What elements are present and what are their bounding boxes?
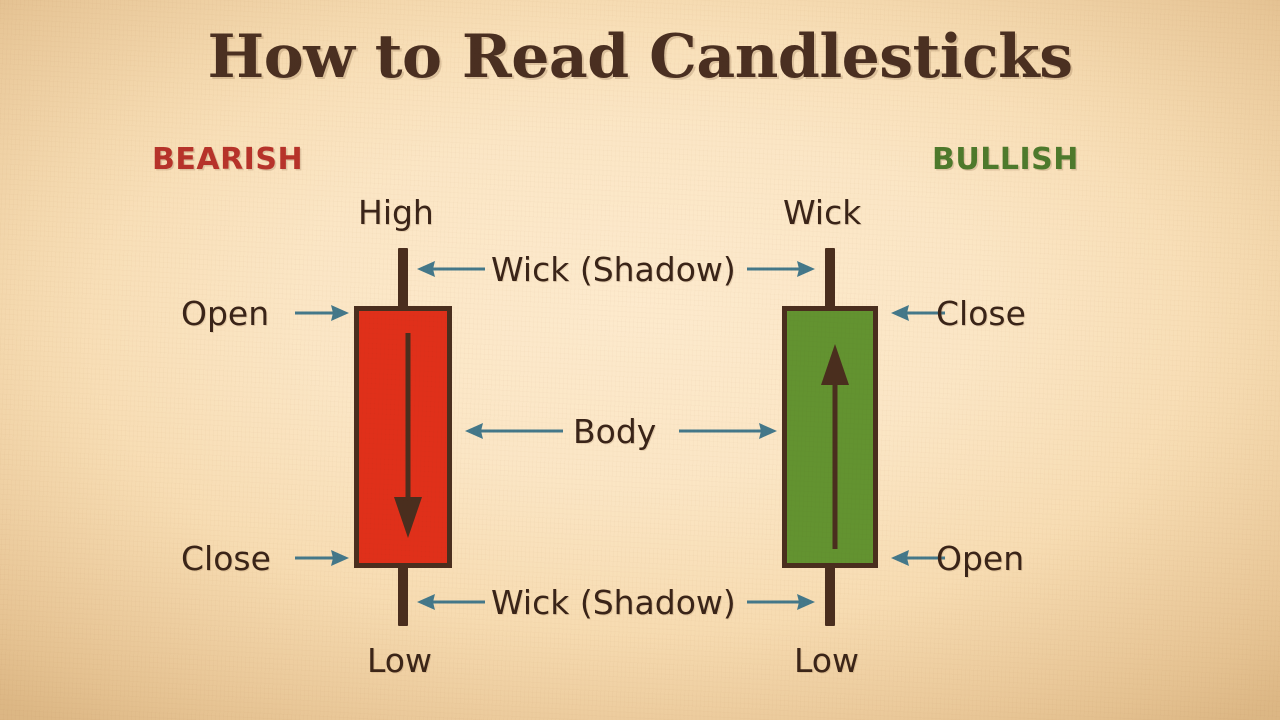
- bullish-body: [782, 306, 878, 568]
- body-left-arrow-icon: [463, 421, 563, 441]
- upper-wick-left-arrow-icon: [415, 259, 485, 279]
- lower-wick-annotation: Wick (Shadow): [491, 583, 736, 622]
- body-right-arrow-icon: [679, 421, 779, 441]
- diagram-canvas: How to Read Candlesticks BEARISH BULLISH…: [0, 0, 1280, 720]
- lower-wick-left-arrow-icon: [415, 592, 485, 612]
- bullish-low-label: Low: [794, 641, 859, 680]
- lower-wick-right-arrow-icon: [747, 592, 817, 612]
- bearish-body: [354, 306, 452, 568]
- bearish-lower-wick: [398, 564, 408, 626]
- bullish-up-arrow-icon: [815, 339, 855, 549]
- bearish-upper-wick: [398, 248, 408, 310]
- bullish-wick-label: Wick: [783, 193, 861, 232]
- bullish-upper-wick: [825, 248, 835, 310]
- bearish-close-arrow-icon: [295, 548, 351, 568]
- bearish-heading: BEARISH: [152, 142, 303, 177]
- bullish-open-label: Open: [936, 539, 1024, 578]
- bullish-lower-wick: [825, 564, 835, 626]
- bearish-open-label: Open: [181, 294, 269, 333]
- bullish-close-label: Close: [936, 294, 1026, 333]
- bearish-high-label: High: [358, 193, 434, 232]
- bearish-down-arrow-icon: [388, 333, 428, 543]
- bearish-open-arrow-icon: [295, 303, 351, 323]
- upper-wick-annotation: Wick (Shadow): [491, 250, 736, 289]
- bearish-low-label: Low: [367, 641, 432, 680]
- body-annotation: Body: [573, 412, 656, 451]
- upper-wick-right-arrow-icon: [747, 259, 817, 279]
- bearish-close-label: Close: [181, 539, 271, 578]
- page-title: How to Read Candlesticks: [0, 22, 1280, 92]
- bullish-heading: BULLISH: [932, 142, 1079, 177]
